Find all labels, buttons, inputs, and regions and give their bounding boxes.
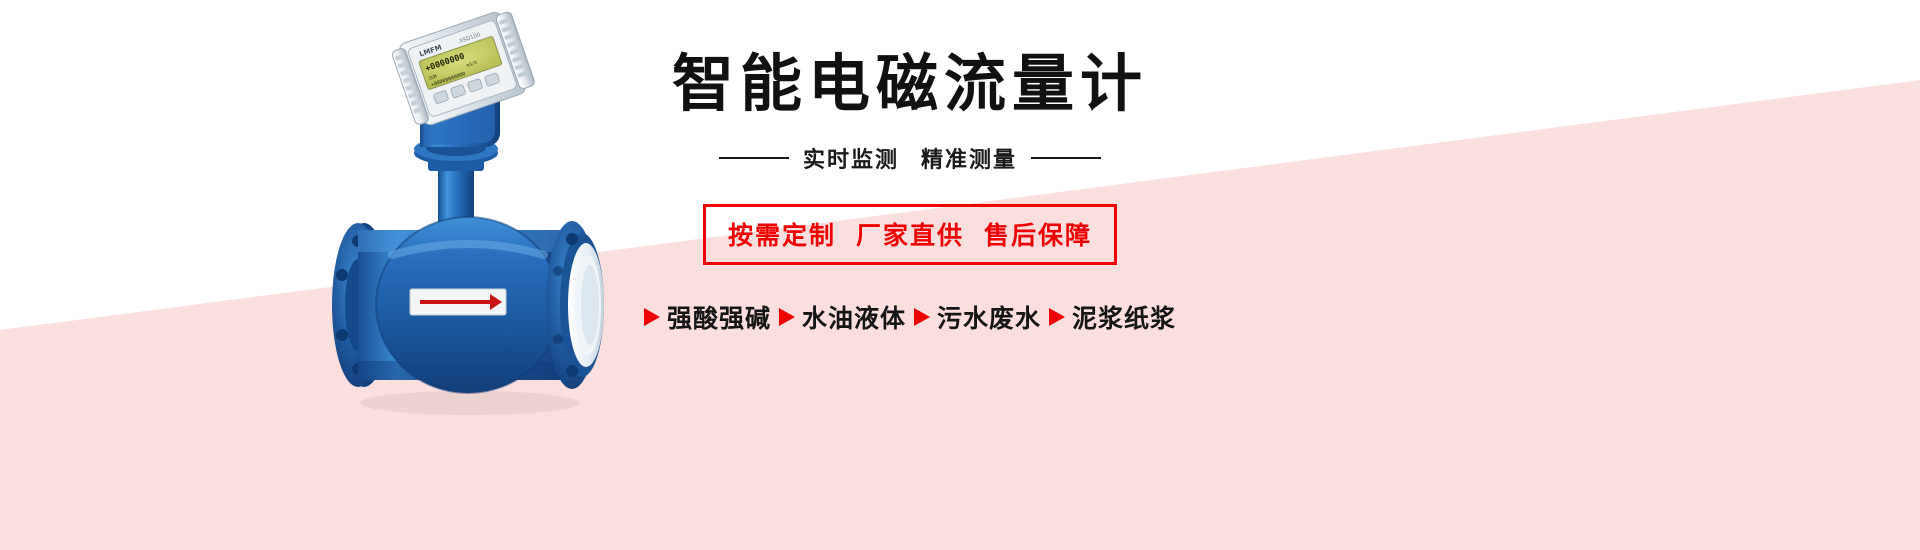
subtitle-text: 实时监测精准测量 bbox=[803, 142, 1017, 174]
promo-banner: LMFM XSD100 +0000000 SUM m3/h +000000000… bbox=[0, 0, 1920, 550]
promo-item-2: 厂家直供 bbox=[836, 221, 964, 250]
triangle-right-icon bbox=[644, 308, 660, 326]
feature-label-4: 泥浆纸浆 bbox=[1072, 299, 1176, 335]
subtitle-rule-left bbox=[719, 157, 789, 159]
promo-item-3: 售后保障 bbox=[964, 221, 1092, 250]
feature-item-4: 泥浆纸浆 bbox=[1049, 299, 1176, 335]
feature-label-2: 水油液体 bbox=[802, 299, 906, 335]
triangle-right-icon bbox=[779, 308, 795, 326]
subtitle-rule-right bbox=[1031, 157, 1101, 159]
triangle-right-icon bbox=[1049, 308, 1065, 326]
promo-item-1: 按需定制 bbox=[728, 221, 836, 250]
feature-item-1: 强酸强碱 bbox=[644, 299, 771, 335]
page-title: 智能电磁流量计 bbox=[600, 30, 1220, 118]
subtitle-left: 实时监测 bbox=[803, 148, 899, 173]
feature-item-3: 污水废水 bbox=[914, 299, 1041, 335]
promo-box: 按需定制厂家直供售后保障 bbox=[703, 204, 1117, 265]
subtitle-row: 实时监测精准测量 bbox=[600, 142, 1220, 174]
feature-list: 强酸强碱 水油液体 污水废水 泥浆纸浆 bbox=[600, 299, 1220, 335]
feature-item-2: 水油液体 bbox=[779, 299, 906, 335]
feature-label-3: 污水废水 bbox=[937, 299, 1041, 335]
subtitle-right: 精准测量 bbox=[899, 148, 1017, 173]
banner-text-block: 智能电磁流量计 实时监测精准测量 按需定制厂家直供售后保障 强酸强碱 水油液体 … bbox=[600, 30, 1220, 430]
feature-label-1: 强酸强碱 bbox=[667, 299, 771, 335]
triangle-right-icon bbox=[914, 308, 930, 326]
